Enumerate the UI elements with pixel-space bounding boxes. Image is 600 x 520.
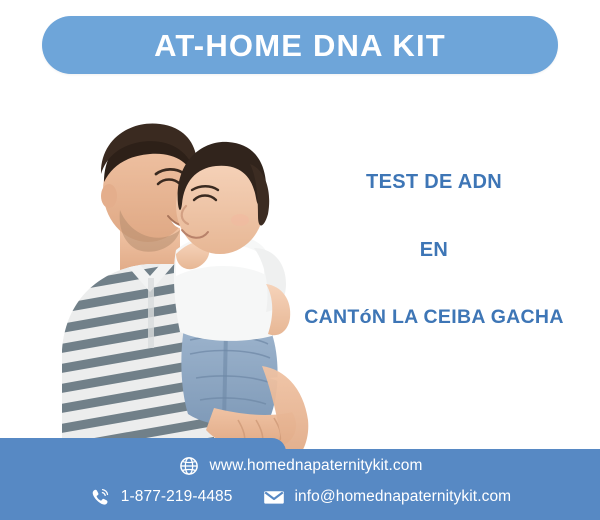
footer-content: www.homednapaternitykit.com 1-877-219-44…: [0, 438, 600, 520]
email-label: info@homednapaternitykit.com: [295, 489, 512, 505]
globe-icon: [178, 455, 200, 477]
contact-email[interactable]: info@homednapaternitykit.com: [263, 486, 512, 508]
footer-contact-bar: www.homednapaternitykit.com 1-877-219-44…: [0, 438, 600, 520]
headline-line-1: TEST DE ADN: [366, 172, 502, 192]
title-pill: AT-HOME DNA KIT: [42, 16, 558, 74]
phone-icon: [89, 486, 111, 508]
poster-canvas: AT-HOME DNA KIT: [0, 0, 600, 520]
header-band: AT-HOME DNA KIT: [0, 0, 600, 88]
headline-line-3: CANTóN LA CEIBA GACHA: [304, 308, 563, 328]
contact-website[interactable]: www.homednapaternitykit.com: [178, 455, 423, 477]
website-label: www.homednapaternitykit.com: [210, 458, 423, 474]
page-title: AT-HOME DNA KIT: [154, 30, 446, 61]
headline-block: TEST DE ADN EN CANTóN LA CEIBA GACHA: [268, 150, 600, 330]
footer-row-website: www.homednapaternitykit.com: [178, 455, 423, 477]
headline-line-2: EN: [420, 240, 448, 260]
envelope-icon: [263, 486, 285, 508]
phone-label: 1-877-219-4485: [121, 489, 233, 505]
footer-row-phone-email: 1-877-219-4485 info@homednapaternitykit.…: [89, 486, 511, 508]
contact-phone[interactable]: 1-877-219-4485: [89, 486, 233, 508]
